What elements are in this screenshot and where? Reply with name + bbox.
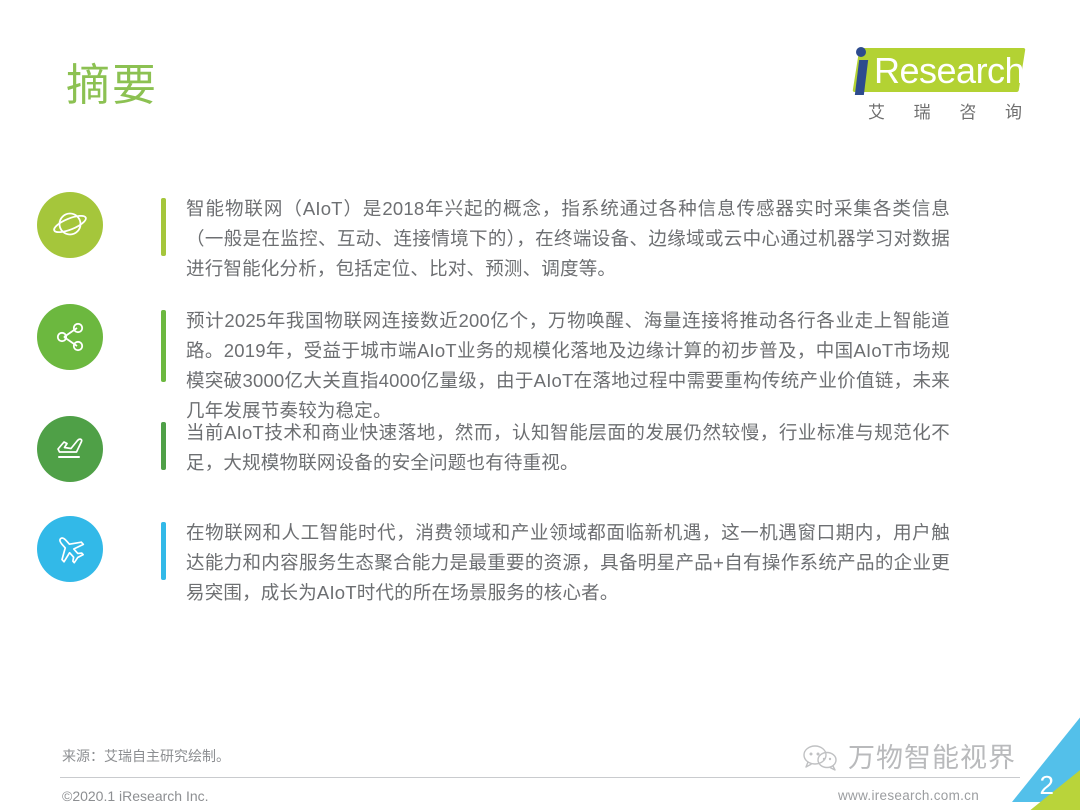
bullet-paragraph: 在物联网和人工智能时代，消费领域和产业领域都面临新机遇，这一机遇窗口期内，用户触… [186, 518, 950, 608]
planet-icon [51, 206, 89, 244]
bullet-divider-cell [140, 512, 186, 580]
bullet-paragraph: 智能物联网（AIoT）是2018年兴起的概念，指系统通过各种信息传感器实时采集各… [186, 194, 950, 284]
bullet-icon-circle [37, 516, 103, 582]
logo-cn-char-3: 咨 [959, 102, 976, 124]
bullet-divider [161, 422, 166, 470]
bullet-text-cell: 当前AIoT技术和商业快速落地，然而，认知智能层面的发展仍然较慢，行业标准与规范… [186, 412, 1080, 478]
slide-page: 摘要 Research 艾 瑞 咨 询 [0, 0, 1080, 810]
bullet-icon-cell [0, 300, 140, 370]
bullet-text-cell: 智能物联网（AIoT）是2018年兴起的概念，指系统通过各种信息传感器实时采集各… [186, 188, 1080, 284]
plane-departure-icon [51, 430, 89, 468]
bullet-text-cell: 在物联网和人工智能时代，消费领域和产业领域都面临新机遇，这一机遇窗口期内，用户触… [186, 512, 1080, 608]
bullet-divider-cell [140, 188, 186, 256]
website-url: www.iresearch.com.cn [838, 786, 979, 806]
logo-cn-char-1: 艾 [868, 102, 885, 124]
iresearch-logo: Research 艾 瑞 咨 询 [822, 44, 1022, 130]
bullet-row: 智能物联网（AIoT）是2018年兴起的概念，指系统通过各种信息传感器实时采集各… [0, 188, 1080, 300]
logo-cn-char-2: 瑞 [914, 102, 931, 124]
logo-chinese-name: 艾 瑞 咨 询 [868, 102, 1022, 124]
bullet-row: 预计2025年我国物联网连接数近200亿个，万物唤醒、海量连接将推动各行各业走上… [0, 300, 1080, 412]
bullet-paragraph: 当前AIoT技术和商业快速落地，然而，认知智能层面的发展仍然较慢，行业标准与规范… [186, 418, 950, 478]
bullet-icon-cell [0, 412, 140, 482]
bullet-icon-cell [0, 188, 140, 258]
footer-divider-rule [60, 777, 1020, 778]
logo-i-dot [856, 47, 866, 57]
bullet-row: 在物联网和人工智能时代，消费领域和产业领域都面临新机遇，这一机遇窗口期内，用户触… [0, 512, 1080, 612]
page-number: 2 [1040, 770, 1054, 800]
bullet-text-cell: 预计2025年我国物联网连接数近200亿个，万物唤醒、海量连接将推动各行各业走上… [186, 300, 1080, 426]
summary-bullet-list: 智能物联网（AIoT）是2018年兴起的概念，指系统通过各种信息传感器实时采集各… [0, 188, 1080, 612]
logo-cn-char-4: 询 [1005, 102, 1022, 124]
bullet-divider [161, 198, 166, 256]
corner-decoration [960, 714, 1080, 810]
bullet-row: 当前AIoT技术和商业快速落地，然而，认知智能层面的发展仍然较慢，行业标准与规范… [0, 412, 1080, 512]
bullet-paragraph: 预计2025年我国物联网连接数近200亿个，万物唤醒、海量连接将推动各行各业走上… [186, 306, 950, 426]
airplane-icon [51, 530, 89, 568]
bullet-icon-circle [37, 304, 103, 370]
logo-wordmark: Research [874, 50, 1024, 92]
logo-mark: Research [822, 44, 1022, 96]
bullet-divider [161, 310, 166, 382]
copyright-text: ©2020.1 iResearch Inc. [62, 786, 209, 806]
page-title: 摘要 [66, 58, 158, 114]
bullet-icon-circle [37, 416, 103, 482]
bullet-divider-cell [140, 412, 186, 470]
bullet-divider-cell [140, 300, 186, 382]
wechat-icon [800, 743, 840, 773]
bullet-divider [161, 522, 166, 580]
share-nodes-icon [52, 319, 88, 355]
source-note: 来源：艾瑞自主研究绘制。 [62, 746, 230, 766]
bullet-icon-cell [0, 512, 140, 582]
bullet-icon-circle [37, 192, 103, 258]
